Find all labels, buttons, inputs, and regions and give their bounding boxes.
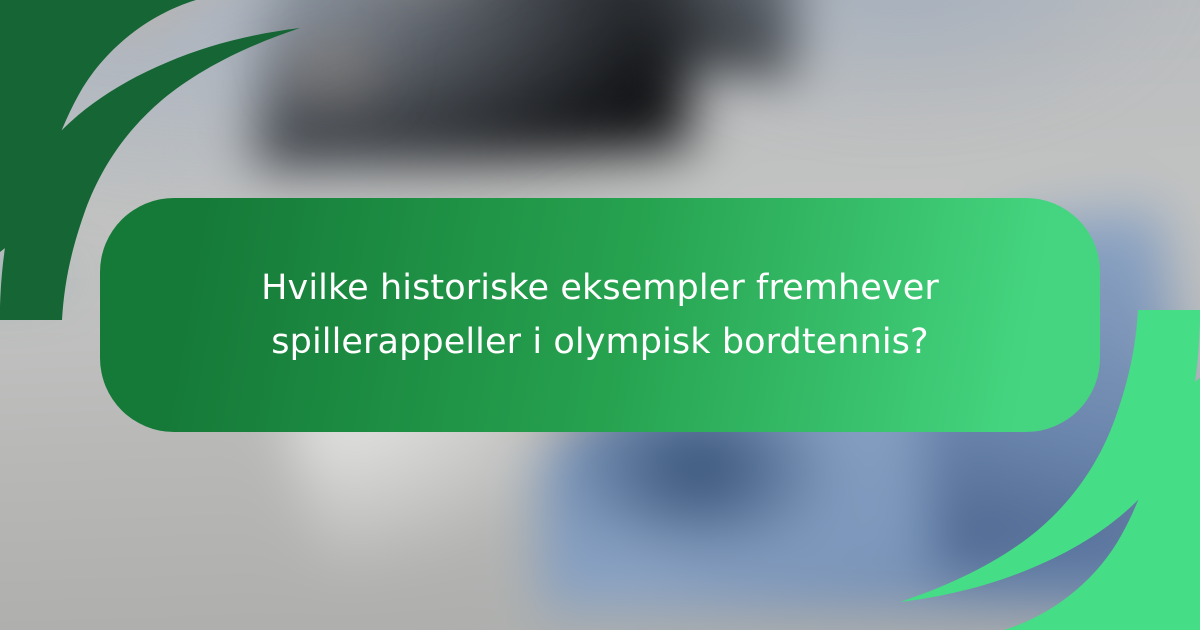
question-text: Hvilke historiske eksempler fremhever sp… <box>250 261 950 369</box>
question-banner: Hvilke historiske eksempler fremhever sp… <box>100 198 1100 432</box>
question-card-canvas: Hvilke historiske eksempler fremhever sp… <box>0 0 1200 630</box>
